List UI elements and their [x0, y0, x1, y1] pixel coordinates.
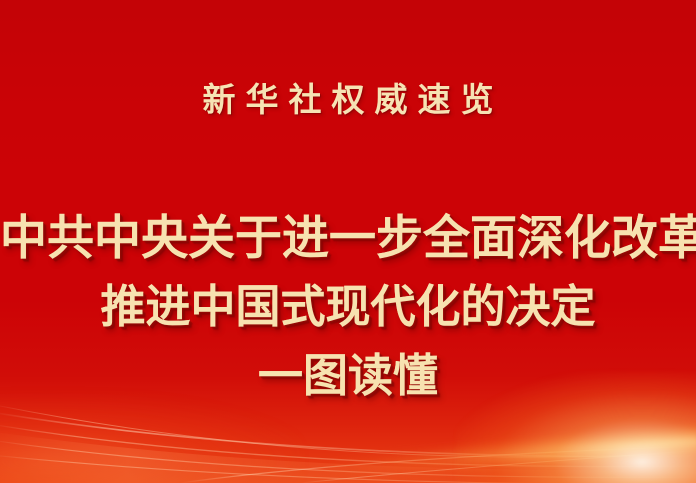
kicker-text: 新华社权威速览	[0, 78, 696, 124]
poster-content: 新华社权威速览 中共中央关于进一步全面深化改革 推进中国式现代化的决定 一图读懂	[0, 0, 696, 483]
poster-canvas: 新华社权威速览 中共中央关于进一步全面深化改革 推进中国式现代化的决定 一图读懂	[0, 0, 696, 483]
headline-line-1: 中共中央关于进一步全面深化改革	[0, 210, 696, 268]
headline-line-3: 一图读懂	[0, 348, 696, 404]
headline-block: 中共中央关于进一步全面深化改革 推进中国式现代化的决定 一图读懂	[0, 210, 696, 404]
headline-line-2: 推进中国式现代化的决定	[0, 279, 696, 335]
